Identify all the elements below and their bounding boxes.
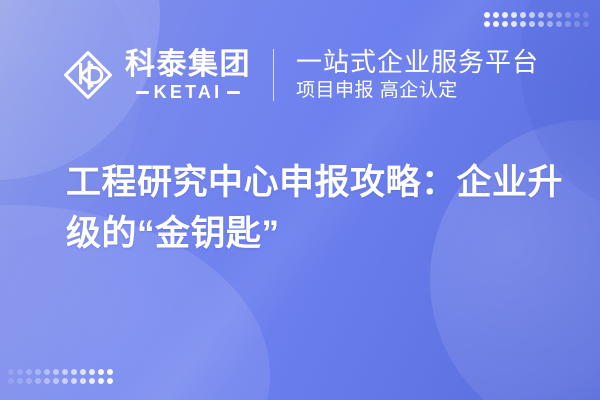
decor-dot	[583, 21, 589, 27]
decor-dot	[493, 12, 499, 18]
decor-dot	[583, 12, 589, 18]
decor-dot	[44, 378, 50, 384]
brand-rule-left	[136, 91, 149, 94]
slogan-block: 一站式企业服务平台 项目申报 高企认定	[296, 47, 539, 103]
decor-dot	[44, 369, 50, 375]
decor-dot	[80, 369, 86, 375]
decor-dot	[8, 378, 14, 384]
decor-dot	[556, 12, 562, 18]
ketai-kd-diamond-logo-icon	[62, 49, 114, 101]
decor-dot	[529, 12, 535, 18]
decor-dot	[107, 378, 113, 384]
brand-name-en-row: KETAI	[125, 83, 251, 101]
decor-dot	[89, 369, 95, 375]
decor-dot-row	[484, 21, 589, 27]
slogan-sub: 项目申报 高企认定	[296, 79, 539, 103]
brand-name-cn: 科泰集团	[125, 49, 251, 80]
decor-dot	[484, 12, 490, 18]
decor-dot-row	[8, 369, 113, 375]
decor-dot	[35, 369, 41, 375]
decor-dot	[98, 378, 104, 384]
decor-dot	[98, 369, 104, 375]
decor-dot	[53, 369, 59, 375]
headline-text: 工程研究中心申报攻略：企业升级的“金钥匙”	[66, 157, 566, 259]
decor-dot	[17, 378, 23, 384]
decor-dot	[556, 21, 562, 27]
slogan-main: 一站式企业服务平台	[296, 47, 539, 77]
decor-dot	[71, 378, 77, 384]
decor-dot	[574, 21, 580, 27]
brand-rule-right	[227, 91, 240, 94]
decor-dot-grid-top-right	[484, 12, 589, 27]
decor-dot	[26, 378, 32, 384]
decor-dot	[547, 12, 553, 18]
decor-dot	[80, 378, 86, 384]
decor-dot	[511, 12, 517, 18]
decor-dot	[547, 21, 553, 27]
decor-dot	[529, 21, 535, 27]
decor-dot	[511, 21, 517, 27]
brand-name-en: KETAI	[154, 83, 223, 101]
decor-dot	[493, 21, 499, 27]
decor-dot-grid-bottom-left	[8, 369, 113, 384]
decor-dot	[565, 12, 571, 18]
decor-dot	[565, 21, 571, 27]
decor-dot	[538, 21, 544, 27]
decor-dot	[107, 369, 113, 375]
decor-dot	[71, 369, 77, 375]
decor-dot	[520, 21, 526, 27]
promo-banner: 科泰集团 KETAI 一站式企业服务平台 项目申报 高企认定 工程研究中心申报攻…	[0, 0, 600, 400]
decor-dot	[538, 12, 544, 18]
decor-dot	[62, 369, 68, 375]
decor-dot	[8, 369, 14, 375]
decor-dot	[574, 12, 580, 18]
decor-dot-row	[8, 378, 113, 384]
decor-dot	[502, 21, 508, 27]
decor-dot	[62, 378, 68, 384]
header-divider	[273, 49, 274, 101]
decor-dot	[502, 12, 508, 18]
brand-wordmark: 科泰集团 KETAI	[125, 49, 251, 101]
banner-header: 科泰集团 KETAI 一站式企业服务平台 项目申报 高企认定	[0, 44, 600, 106]
decor-dot	[520, 12, 526, 18]
decor-dot	[53, 378, 59, 384]
decor-dot	[26, 369, 32, 375]
decor-dot	[17, 369, 23, 375]
decor-dot-row	[484, 12, 589, 18]
brand-logo: 科泰集团 KETAI	[62, 49, 251, 101]
decor-dot	[484, 21, 490, 27]
decor-dot	[35, 378, 41, 384]
decor-dot	[89, 378, 95, 384]
